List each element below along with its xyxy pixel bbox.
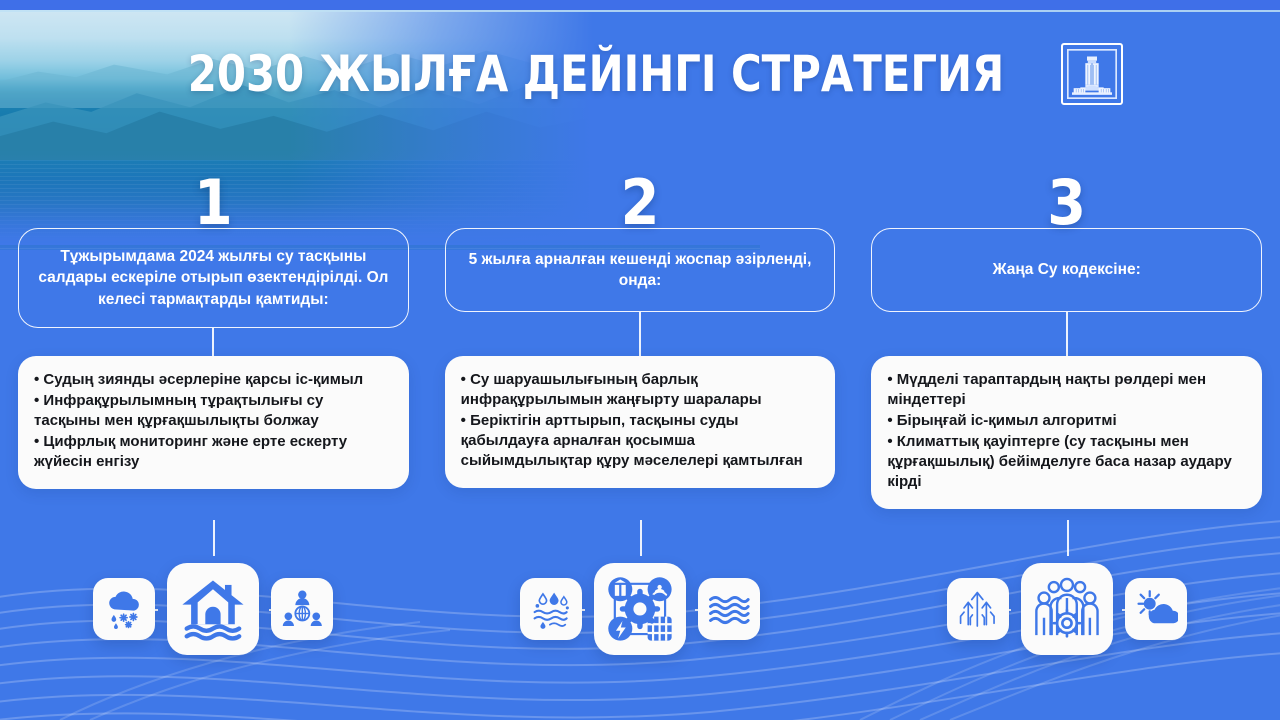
icon-stem-line xyxy=(1067,520,1069,556)
column-1-headline: Тұжырымдама 2024 жылғы су тасқыны салдар… xyxy=(18,228,409,328)
column-3-connector xyxy=(1066,312,1068,356)
list-item: • Климаттық қауіптерге (су тасқыны мен қ… xyxy=(887,432,1246,492)
icon-stem-line xyxy=(213,520,215,556)
list-item: • Судың зиянды әсерлеріне қарсы іс-қимыл xyxy=(34,370,393,390)
stakeholders-gear-icon xyxy=(1021,563,1113,655)
list-item: • Мүдделі тараптардың нақты рөлдері мен … xyxy=(887,370,1246,410)
list-item: • Бірыңғай іс-қимыл алгоритмі xyxy=(887,411,1246,431)
column-3-number: 3 xyxy=(1047,172,1086,234)
cloud-rain-snow-icon xyxy=(93,578,155,640)
page-title: 2030 ЖЫЛҒА ДЕЙІНГІ СТРАТЕГИЯ xyxy=(188,45,1005,103)
column-1-bullet-list: • Судың зиянды әсерлеріне қарсы іс-қимыл… xyxy=(34,370,393,472)
column-2-bullet-list: • Су шаруашылығының барлық инфрақұрылымы… xyxy=(461,370,820,471)
column-3-headline: Жаңа Су кодексіне: xyxy=(871,228,1262,312)
growth-arrows-circuit-icon xyxy=(947,578,1009,640)
flooded-house-icon xyxy=(167,563,259,655)
column-1-number: 1 xyxy=(194,172,233,234)
government-building-icon xyxy=(1061,43,1123,105)
columns-container: 1 Тұжырымдама 2024 жылғы су тасқыны салд… xyxy=(0,150,1280,570)
icon-group-1 xyxy=(0,554,427,664)
sun-cloud-climate-icon xyxy=(1125,578,1187,640)
header: 2030 ЖЫЛҒА ДЕЙІНГІ СТРАТЕГИЯ xyxy=(0,34,1280,114)
column-2-headline: 5 жылға арналған кешенді жоспар әзірленд… xyxy=(445,228,836,312)
column-1-body: • Судың зиянды әсерлеріне қарсы іс-қимыл… xyxy=(18,356,409,489)
column-2-number: 2 xyxy=(621,172,660,234)
infrastructure-gear-hub-icon xyxy=(594,563,686,655)
water-drops-waves-icon xyxy=(520,578,582,640)
list-item: • Су шаруашылығының барлық инфрақұрылымы… xyxy=(461,370,820,410)
column-3-bullet-list: • Мүдделі тараптардың нақты рөлдері мен … xyxy=(887,370,1246,492)
list-item: • Цифрлық мониторинг және ерте ескерту ж… xyxy=(34,432,393,472)
icon-group-2 xyxy=(427,554,854,664)
list-item: • Беріктігін арттырып, тасқыны суды қабы… xyxy=(461,411,820,471)
water-waves-icon xyxy=(698,578,760,640)
column-3: 3 Жаңа Су кодексіне: • Мүдделі тараптард… xyxy=(853,150,1280,570)
top-divider-line xyxy=(0,10,1280,12)
icon-row xyxy=(0,554,1280,664)
column-1-connector xyxy=(212,328,214,356)
list-item: • Инфрақұрылымның тұрақтылығы су тасқыны… xyxy=(34,391,393,431)
top-bar xyxy=(0,0,1280,10)
column-2-connector xyxy=(639,312,641,356)
infographic-stage: 2030 ЖЫЛҒА ДЕЙІНГІ СТРАТЕГИЯ xyxy=(0,0,1280,720)
column-2-body: • Су шаруашылығының барлық инфрақұрылымы… xyxy=(445,356,836,488)
people-network-globe-icon xyxy=(271,578,333,640)
column-2: 2 5 жылға арналған кешенді жоспар әзірле… xyxy=(427,150,854,570)
icon-stem-line xyxy=(640,520,642,556)
column-3-body: • Мүдделі тараптардың нақты рөлдері мен … xyxy=(871,356,1262,509)
icon-group-3 xyxy=(853,554,1280,664)
column-1: 1 Тұжырымдама 2024 жылғы су тасқыны салд… xyxy=(0,150,427,570)
